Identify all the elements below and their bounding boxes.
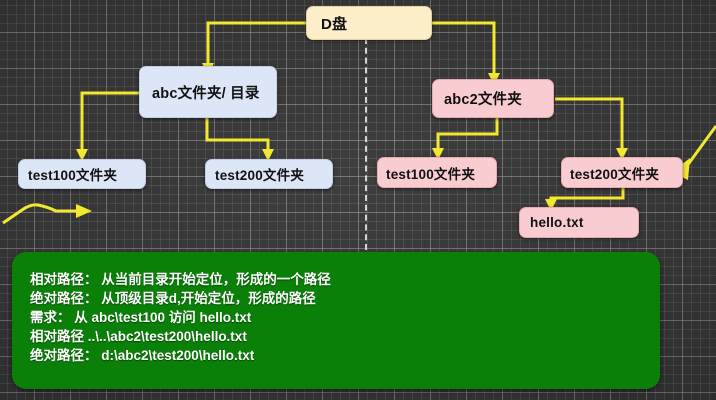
node-label: abc文件夹/ 目录 <box>152 82 260 103</box>
notes-text: 相对路径： 从当前目录开始定位，形成的一个路径 绝对路径： 从顶级目录d,开始定… <box>30 270 650 365</box>
freehand-arrow-left <box>3 205 78 223</box>
link-dpan-to-abc2 <box>432 23 494 76</box>
link-abc2-to-test100 <box>438 118 497 151</box>
note-line-1: 相对路径： 从当前目录开始定位，形成的一个路径 <box>30 270 650 289</box>
node-label: test200文件夹 <box>570 163 659 183</box>
diagram-canvas: D盘 abc文件夹/ 目录 test100文件夹 test200文件夹 abc2… <box>0 0 716 400</box>
node-label: test100文件夹 <box>28 164 117 184</box>
node-label: test100文件夹 <box>386 163 475 183</box>
node-abc2-test200[interactable]: test200文件夹 <box>561 157 683 188</box>
note-line-2: 绝对路径： 从顶级目录d,开始定位，形成的路径 <box>30 289 650 308</box>
node-abc-test200[interactable]: test200文件夹 <box>205 159 333 189</box>
node-d-pan[interactable]: D盘 <box>306 6 432 40</box>
node-hello-txt[interactable]: hello.txt <box>519 207 639 238</box>
link-abc2-to-test200 <box>555 99 622 151</box>
node-label: D盘 <box>321 13 347 34</box>
note-line-3: 需求： 从 abc\test100 访问 hello.txt <box>30 308 650 327</box>
node-label: hello.txt <box>530 215 584 230</box>
link-dpan-to-abc <box>208 23 306 66</box>
node-label: test200文件夹 <box>215 164 304 184</box>
link-abc-to-test200 <box>207 118 268 152</box>
link-abc-to-test100 <box>82 93 139 152</box>
note-line-5: 绝对路径： d:\abc2\test200\hello.txt <box>30 346 650 365</box>
link-test200-to-hello <box>551 187 623 203</box>
node-abc-test100[interactable]: test100文件夹 <box>18 159 146 189</box>
node-abc2-folder[interactable]: abc2文件夹 <box>432 79 554 118</box>
notes-panel: 相对路径： 从当前目录开始定位，形成的一个路径 绝对路径： 从顶级目录d,开始定… <box>12 252 660 389</box>
node-abc-folder[interactable]: abc文件夹/ 目录 <box>139 66 277 118</box>
node-label: abc2文件夹 <box>444 88 522 109</box>
arrowhead-freehand-left <box>76 204 92 218</box>
node-abc2-test100[interactable]: test100文件夹 <box>377 157 497 188</box>
note-line-4: 相对路径 ..\..\abc2\test200\hello.txt <box>30 327 650 346</box>
